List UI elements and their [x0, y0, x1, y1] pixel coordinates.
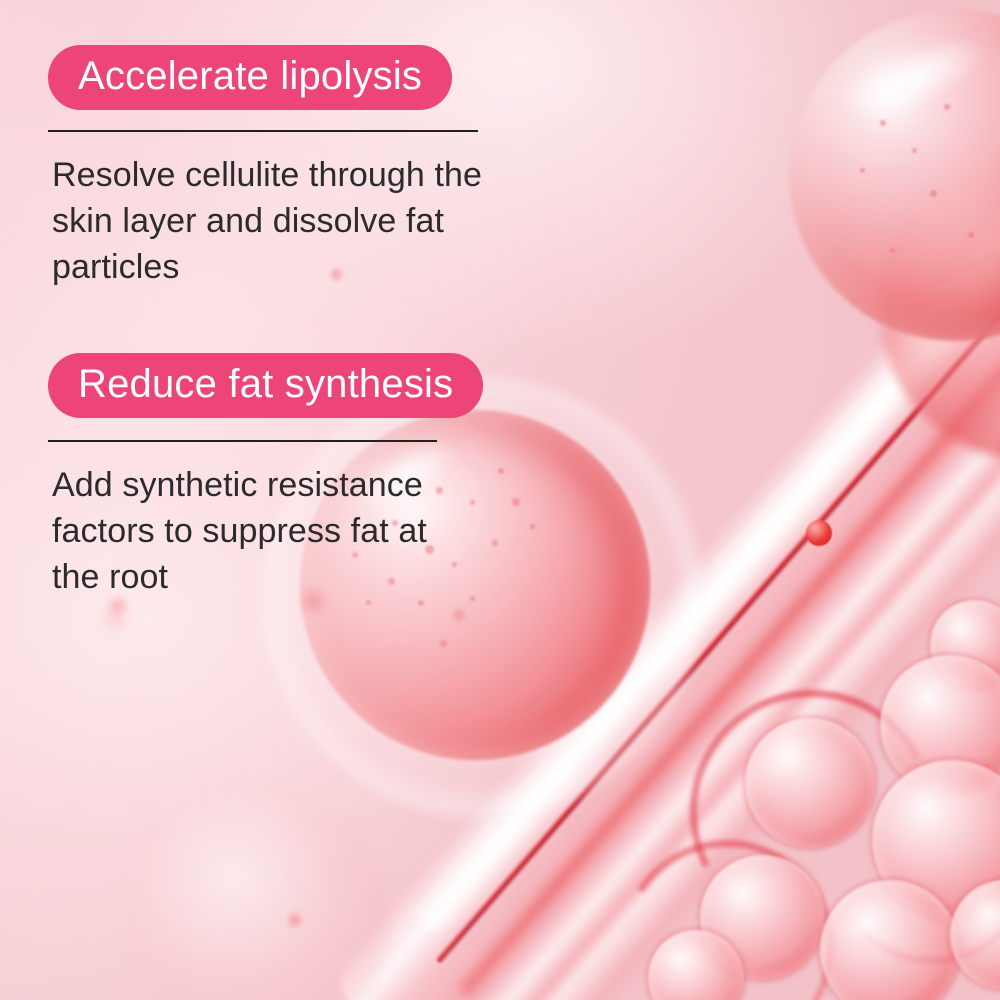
product-feature-poster: Accelerate lipolysis Resolve cellulite t…: [0, 0, 1000, 1000]
feature-divider-2: [48, 440, 437, 442]
feature-badge-accelerate-lipolysis: Accelerate lipolysis: [48, 45, 452, 110]
feature-body-reduce-fat-synthesis: Add synthetic resistance factors to supp…: [52, 462, 427, 600]
feature-body-accelerate-lipolysis: Resolve cellulite through the skin layer…: [52, 152, 482, 290]
feature-badge-reduce-fat-synthesis: Reduce fat synthesis: [48, 353, 483, 418]
poster-content: Accelerate lipolysis Resolve cellulite t…: [0, 0, 1000, 1000]
feature-divider-1: [48, 130, 478, 132]
